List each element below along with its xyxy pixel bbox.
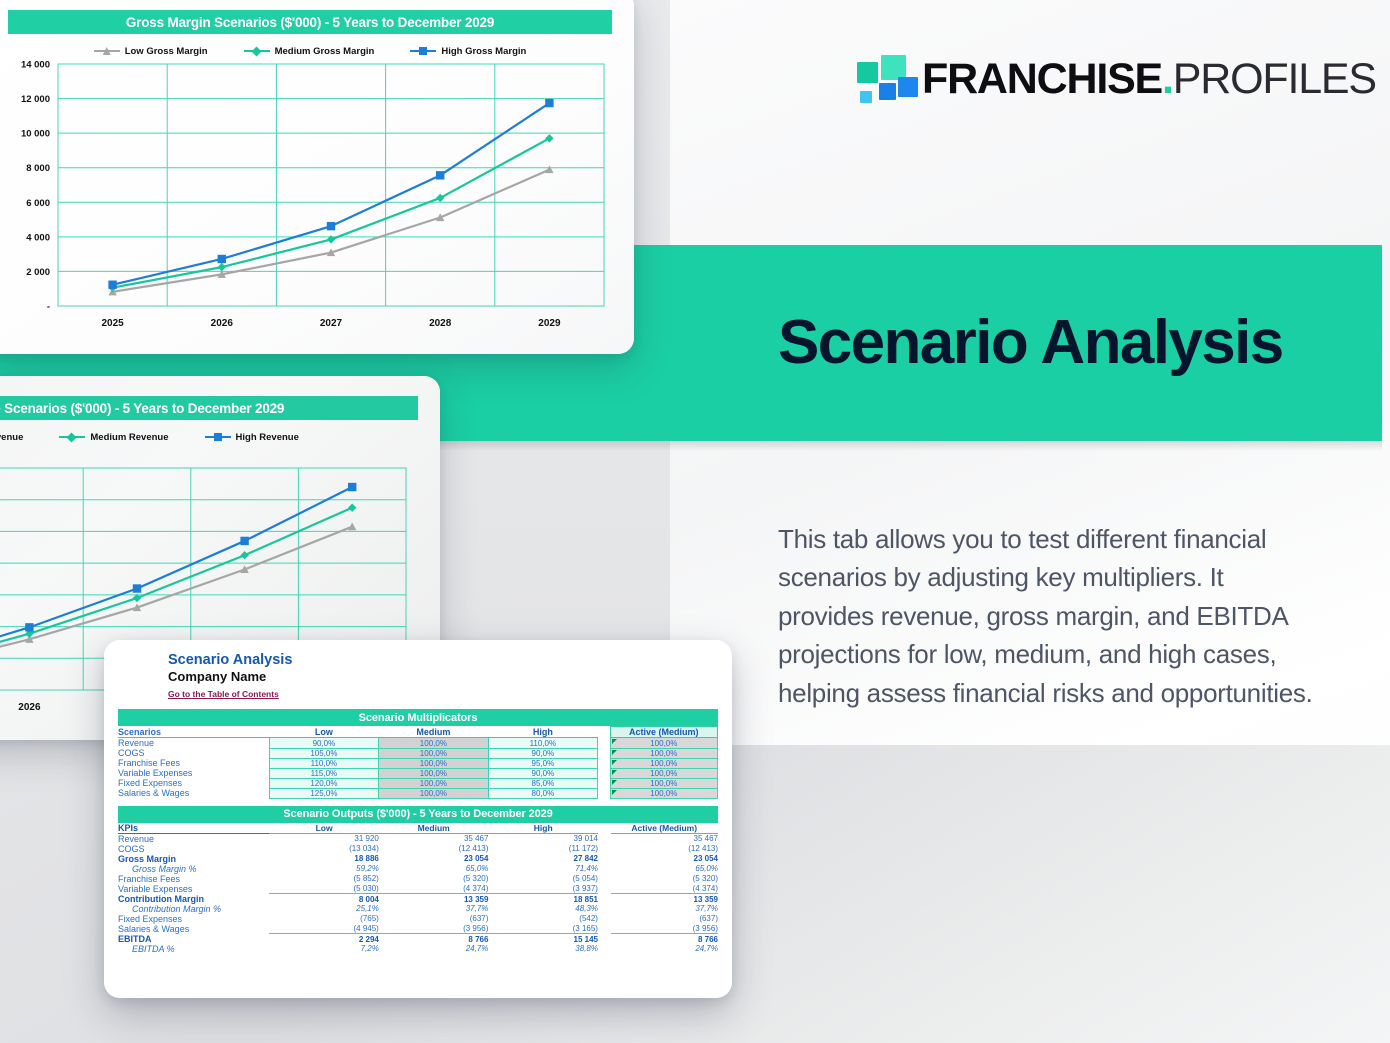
- cell-high[interactable]: 95,0%: [488, 758, 597, 768]
- cell-low: (5 030): [269, 884, 379, 894]
- outputs-table: KPIs Low Medium High Active (Medium) Rev…: [118, 823, 718, 954]
- chart-title-bar: Revenue Scenarios ($'000) - 5 Years to D…: [0, 396, 418, 420]
- logo-square-teal-dark: [857, 62, 878, 83]
- spacer-cell: [598, 727, 611, 738]
- spacer-cell: [598, 854, 611, 864]
- cell-high: 39 014: [488, 833, 598, 844]
- cell-high: 15 145: [488, 934, 598, 944]
- square-marker-icon: [419, 47, 427, 55]
- svg-text:2026: 2026: [18, 702, 41, 713]
- logo-text-profiles: PROFILES: [1173, 55, 1376, 103]
- cell-medium[interactable]: 100,0%: [379, 778, 488, 788]
- column-header-low: Low: [269, 823, 379, 834]
- logo-wordmark: FRANCHISE.PROFILES: [922, 58, 1376, 101]
- spacer-cell: [598, 914, 611, 924]
- cell-high[interactable]: 90,0%: [488, 768, 597, 778]
- sheet-header: Scenario Analysis Company Name Go to the…: [118, 652, 718, 702]
- output-row: Revenue31 92035 46739 01435 467: [118, 833, 718, 844]
- cell-low: 18 886: [269, 854, 379, 864]
- cell-low[interactable]: 110,0%: [269, 758, 378, 768]
- cell-low: 25,1%: [269, 904, 379, 914]
- cell-low[interactable]: 115,0%: [269, 768, 378, 778]
- logo-squares-icon: [852, 53, 904, 105]
- scenario-analysis-sheet-card: Scenario Analysis Company Name Go to the…: [104, 640, 732, 998]
- cell-active: (5 320): [611, 874, 719, 884]
- logo-text-dot: .: [1162, 55, 1173, 103]
- cell-medium: 23 054: [379, 854, 489, 864]
- multiplicators-header-row: Scenarios Low Medium High Active (Medium…: [118, 727, 718, 738]
- cell-high: 48,3%: [488, 904, 598, 914]
- cell-active: 13 359: [611, 894, 719, 904]
- cell-low[interactable]: 105,0%: [269, 748, 378, 758]
- gross-margin-chart-card: Gross Margin Scenarios ($'000) - 5 Years…: [0, 0, 634, 354]
- cell-medium[interactable]: 100,0%: [379, 768, 488, 778]
- cell-low: 2 294: [269, 934, 379, 944]
- output-row: Franchise Fees(5 852)(5 320)(5 054)(5 32…: [118, 874, 718, 884]
- outputs-section-title: Scenario Outputs ($'000) - 5 Years to De…: [283, 808, 552, 820]
- cell-high: (11 172): [488, 844, 598, 854]
- output-row: Contribution Margin %25,1%37,7%48,3%37,7…: [118, 904, 718, 914]
- cell-low: (4 945): [269, 924, 379, 934]
- outputs-row-header: KPIs: [118, 823, 269, 834]
- outputs-header-row: KPIs Low Medium High Active (Medium): [118, 823, 718, 834]
- row-label: Gross Margin: [118, 854, 269, 864]
- output-row: Fixed Expenses(765)(637)(542)(637): [118, 914, 718, 924]
- cell-low[interactable]: 90,0%: [269, 738, 378, 749]
- square-marker-icon: [214, 433, 222, 441]
- spacer-cell: [598, 904, 611, 914]
- chart-title: Revenue Scenarios ($'000) - 5 Years to D…: [0, 401, 284, 416]
- spacer-cell: [598, 934, 611, 944]
- cell-high: (3 937): [488, 884, 598, 894]
- legend-label-high: High Revenue: [236, 432, 299, 443]
- cell-active[interactable]: 100,0%: [610, 788, 717, 798]
- cell-low: 59,2%: [269, 864, 379, 874]
- row-label: Contribution Margin: [118, 894, 269, 904]
- spacer-cell: [598, 874, 611, 884]
- legend-item-low: Low Gross Margin: [94, 46, 208, 57]
- cell-active: 65,0%: [611, 864, 719, 874]
- svg-text:2028: 2028: [429, 318, 452, 329]
- row-label: Salaries & Wages: [118, 924, 269, 934]
- cell-low: 31 920: [269, 833, 379, 844]
- column-header-active: Active (Medium): [611, 823, 719, 834]
- output-row: Salaries & Wages(4 945)(3 956)(3 165)(3 …: [118, 924, 718, 934]
- column-header-high: High: [488, 727, 597, 738]
- svg-text:8 000: 8 000: [26, 163, 50, 174]
- cell-high[interactable]: 85,0%: [488, 778, 597, 788]
- cell-medium: (5 320): [379, 874, 489, 884]
- sheet-inner: Scenario Analysis Company Name Go to the…: [104, 640, 732, 998]
- cell-high: 27 842: [488, 854, 598, 864]
- row-label: Salaries & Wages: [118, 788, 269, 798]
- cell-active: 35 467: [611, 833, 719, 844]
- legend-label-medium: Medium Gross Margin: [275, 46, 375, 57]
- spacer-cell: [598, 768, 611, 778]
- row-label: EBITDA: [118, 934, 269, 944]
- legend-label-low: Low Gross Margin: [125, 46, 208, 57]
- cell-active: (637): [611, 914, 719, 924]
- sheet-title: Scenario Analysis: [168, 652, 718, 669]
- diamond-marker-icon: [251, 47, 261, 57]
- logo-text-franchise: FRANCHISE: [922, 55, 1162, 103]
- output-row: EBITDA2 2948 76615 1458 766: [118, 934, 718, 944]
- cell-medium: 37,7%: [379, 904, 489, 914]
- legend-label-high: High Gross Margin: [441, 46, 526, 57]
- cell-high: (5 054): [488, 874, 598, 884]
- cell-high: 18 851: [488, 894, 598, 904]
- outputs-section-bar: Scenario Outputs ($'000) - 5 Years to De…: [118, 806, 718, 823]
- svg-text:6 000: 6 000: [26, 198, 50, 209]
- legend-item-high: High Revenue: [205, 432, 299, 443]
- output-row: Gross Margin %59,2%65,0%71,4%65,0%: [118, 864, 718, 874]
- multiplicators-table: Scenarios Low Medium High Active (Medium…: [118, 726, 718, 799]
- spacer-cell: [598, 748, 611, 758]
- output-row: Gross Margin18 88623 05427 84223 054: [118, 854, 718, 864]
- svg-text:2026: 2026: [211, 318, 234, 329]
- cell-low[interactable]: 125,0%: [269, 788, 378, 798]
- multiplicator-row: Franchise Fees110,0%100,0%95,0%100,0%: [118, 758, 718, 768]
- cell-high: 71,4%: [488, 864, 598, 874]
- cell-low: (13 034): [269, 844, 379, 854]
- legend-line-high: [205, 436, 231, 438]
- cell-medium: 8 766: [379, 934, 489, 944]
- cell-active[interactable]: 100,0%: [610, 748, 717, 758]
- spacer-cell: [598, 844, 611, 854]
- column-header-medium: Medium: [379, 727, 488, 738]
- row-label: Revenue: [118, 738, 269, 749]
- cell-high: (542): [488, 914, 598, 924]
- column-header-medium: Medium: [379, 823, 489, 834]
- svg-text:2027: 2027: [320, 318, 343, 329]
- multiplicator-row: Fixed Expenses120,0%100,0%85,0%100,0%: [118, 778, 718, 788]
- row-label: Franchise Fees: [118, 758, 269, 768]
- cell-active: (3 956): [611, 924, 719, 934]
- chart-inner: Gross Margin Scenarios ($'000) - 5 Years…: [0, 0, 634, 354]
- cell-low: (765): [269, 914, 379, 924]
- column-header-active: Active (Medium): [610, 727, 717, 738]
- spacer-cell: [598, 758, 611, 768]
- diamond-marker-icon: [67, 433, 77, 443]
- output-row: EBITDA %7,2%24,7%38,8%24,7%: [118, 944, 718, 954]
- spacer-cell: [598, 884, 611, 894]
- multiplicator-row: Revenue90,0%100,0%110,0%100,0%: [118, 738, 718, 749]
- output-row: Variable Expenses(5 030)(4 374)(3 937)(4…: [118, 884, 718, 894]
- table-of-contents-link[interactable]: Go to the Table of Contents: [168, 689, 279, 699]
- output-row: COGS(13 034)(12 413)(11 172)(12 413): [118, 844, 718, 854]
- chart-title-bar: Gross Margin Scenarios ($'000) - 5 Years…: [8, 10, 612, 34]
- cell-high: 38,8%: [488, 944, 598, 954]
- row-label: Fixed Expenses: [118, 778, 269, 788]
- sheet-company: Company Name: [168, 669, 718, 685]
- spacer-cell: [598, 778, 611, 788]
- chart-title: Gross Margin Scenarios ($'000) - 5 Years…: [126, 15, 494, 30]
- logo-square-blue-small: [879, 83, 896, 100]
- row-label: Gross Margin %: [118, 864, 269, 874]
- multiplicators-section-title: Scenario Multiplicators: [359, 712, 478, 724]
- cell-active: (12 413): [611, 844, 719, 854]
- multiplicator-row: COGS105,0%100,0%90,0%100,0%: [118, 748, 718, 758]
- legend-item-high: High Gross Margin: [410, 46, 526, 57]
- cell-low: (5 852): [269, 874, 379, 884]
- triangle-marker-icon: [103, 47, 111, 55]
- cell-active: (4 374): [611, 884, 719, 894]
- cell-medium: 13 359: [379, 894, 489, 904]
- cell-medium: 65,0%: [379, 864, 489, 874]
- row-label: Revenue: [118, 833, 269, 844]
- cell-active: 24,7%: [611, 944, 719, 954]
- cell-active[interactable]: 100,0%: [610, 758, 717, 768]
- legend-line-medium: [59, 436, 85, 438]
- franchise-profiles-logo: FRANCHISE.PROFILES: [852, 48, 1352, 110]
- cell-medium[interactable]: 100,0%: [379, 748, 488, 758]
- cell-medium: (12 413): [379, 844, 489, 854]
- svg-text:14 000: 14 000: [21, 60, 50, 71]
- svg-text:4 000: 4 000: [26, 232, 50, 243]
- cell-medium[interactable]: 100,0%: [379, 788, 488, 798]
- cell-active: 37,7%: [611, 904, 719, 914]
- spacer-cell: [598, 864, 611, 874]
- legend-line-low: [94, 50, 120, 52]
- column-header-low: Low: [269, 727, 378, 738]
- row-label: Variable Expenses: [118, 768, 269, 778]
- spacer-cell: [598, 894, 611, 904]
- multiplicators-body: Revenue90,0%100,0%110,0%100,0%COGS105,0%…: [118, 738, 718, 799]
- cell-medium: (637): [379, 914, 489, 924]
- gross-margin-plot-svg: -2 0004 0006 0008 00010 00012 00014 0002…: [0, 56, 634, 354]
- spacer-cell: [598, 823, 611, 834]
- column-header-high: High: [488, 823, 598, 834]
- page-description: This tab allows you to test different fi…: [778, 520, 1323, 712]
- cell-medium: (3 956): [379, 924, 489, 934]
- cell-medium[interactable]: 100,0%: [379, 758, 488, 768]
- row-label: COGS: [118, 748, 269, 758]
- cell-medium: (4 374): [379, 884, 489, 894]
- spacer-cell: [598, 833, 611, 844]
- svg-text:12 000: 12 000: [21, 94, 50, 105]
- legend-line-medium: [244, 50, 270, 52]
- legend-item-medium: Medium Revenue: [59, 432, 168, 443]
- cell-high[interactable]: 110,0%: [488, 738, 597, 749]
- cell-high: (3 165): [488, 924, 598, 934]
- row-label: Fixed Expenses: [118, 914, 269, 924]
- svg-text:2025: 2025: [101, 318, 124, 329]
- cell-low[interactable]: 120,0%: [269, 778, 378, 788]
- legend-label-medium: Medium Revenue: [90, 432, 168, 443]
- svg-text:-: -: [47, 302, 50, 313]
- legend-item-medium: Medium Gross Margin: [244, 46, 375, 57]
- cell-medium: 24,7%: [379, 944, 489, 954]
- spacer-cell: [598, 738, 611, 749]
- row-label: Variable Expenses: [118, 884, 269, 894]
- spacer-cell: [598, 788, 611, 798]
- multiplicators-row-header: Scenarios: [118, 727, 269, 738]
- cell-low: 8 004: [269, 894, 379, 904]
- page-title: Scenario Analysis: [778, 310, 1358, 375]
- legend-item-low: Low Revenue: [0, 432, 23, 443]
- spacer-cell: [598, 924, 611, 934]
- legend-line-high: [410, 50, 436, 52]
- multiplicator-row: Salaries & Wages125,0%100,0%80,0%100,0%: [118, 788, 718, 798]
- outputs-body: Revenue31 92035 46739 01435 467COGS(13 0…: [118, 833, 718, 954]
- output-row: Contribution Margin8 00413 35918 85113 3…: [118, 894, 718, 904]
- multiplicator-row: Variable Expenses115,0%100,0%90,0%100,0%: [118, 768, 718, 778]
- cell-active[interactable]: 100,0%: [610, 768, 717, 778]
- row-label: COGS: [118, 844, 269, 854]
- logo-square-blue: [898, 77, 918, 97]
- cell-medium[interactable]: 100,0%: [379, 738, 488, 749]
- cell-high[interactable]: 80,0%: [488, 788, 597, 798]
- multiplicators-section-bar: Scenario Multiplicators: [118, 709, 718, 726]
- cell-active: 8 766: [611, 934, 719, 944]
- cell-medium: 35 467: [379, 833, 489, 844]
- cell-active: 23 054: [611, 854, 719, 864]
- cell-active[interactable]: 100,0%: [610, 738, 717, 749]
- spacer-cell: [598, 944, 611, 954]
- legend-label-low: Low Revenue: [0, 432, 23, 443]
- cell-high[interactable]: 90,0%: [488, 748, 597, 758]
- svg-text:2 000: 2 000: [26, 267, 50, 278]
- svg-text:10 000: 10 000: [21, 129, 50, 140]
- cell-low: 7,2%: [269, 944, 379, 954]
- row-label: Contribution Margin %: [118, 904, 269, 914]
- chart-plot-area: -2 0004 0006 0008 00010 00012 00014 0002…: [0, 56, 634, 354]
- row-label: Franchise Fees: [118, 874, 269, 884]
- row-label: EBITDA %: [118, 944, 269, 954]
- logo-square-cyan: [860, 91, 872, 103]
- cell-active[interactable]: 100,0%: [610, 778, 717, 788]
- svg-text:2029: 2029: [538, 318, 561, 329]
